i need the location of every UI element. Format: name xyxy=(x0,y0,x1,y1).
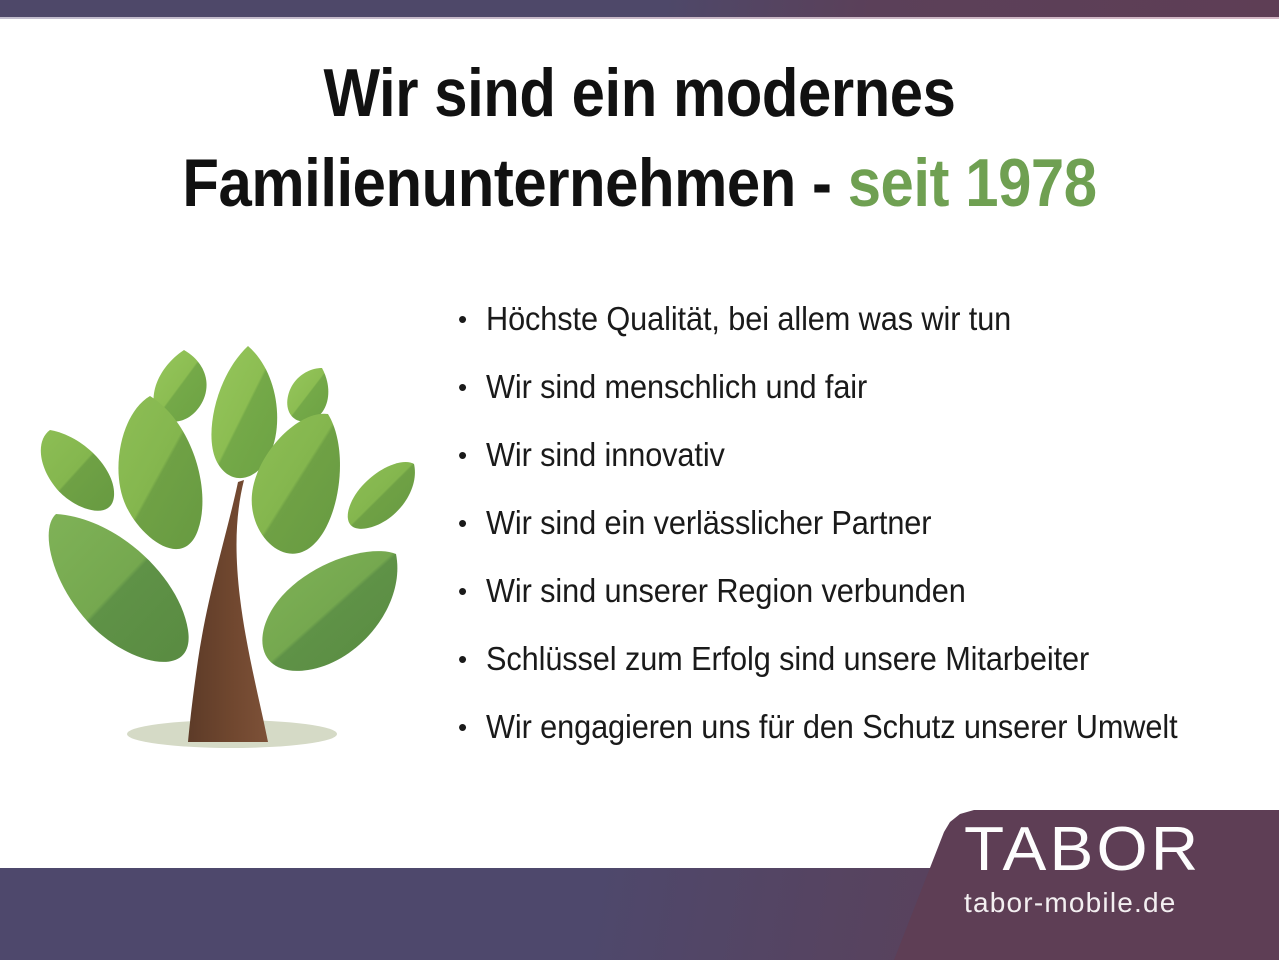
headline-line-2: Familienunternehmen - seit 1978 xyxy=(77,138,1203,228)
leaf-top-right-small xyxy=(287,368,328,422)
list-item-label: Wir sind menschlich und fair xyxy=(486,368,867,406)
tree-illustration xyxy=(22,330,442,770)
list-item-label: Höchste Qualität, bei allem was wir tun xyxy=(486,300,1011,338)
list-item: • Wir sind unserer Region verbunden xyxy=(458,572,1268,640)
list-item: • Wir sind innovativ xyxy=(458,436,1268,504)
bullet-icon: • xyxy=(458,578,486,604)
list-item: • Schlüssel zum Erfolg sind unsere Mitar… xyxy=(458,640,1268,708)
list-item-label: Wir engagieren uns für den Schutz unsere… xyxy=(486,708,1178,746)
list-item: • Wir sind ein verlässlicher Partner xyxy=(458,504,1268,572)
leaf-upper-left xyxy=(118,396,202,549)
slide-root: Wir sind ein modernes Familienunternehme… xyxy=(0,0,1279,960)
bullet-icon: • xyxy=(458,510,486,536)
benefits-list: • Höchste Qualität, bei allem was wir tu… xyxy=(458,300,1268,776)
leaf-far-left xyxy=(41,430,114,511)
headline-line-2-main: Familienunternehmen - xyxy=(182,145,847,221)
page-title: Wir sind ein modernes Familienunternehme… xyxy=(77,48,1203,228)
leaf-lower-right xyxy=(262,551,397,671)
headline-line-1: Wir sind ein modernes xyxy=(77,48,1203,138)
list-item: • Höchste Qualität, bei allem was wir tu… xyxy=(458,300,1268,368)
top-accent-hairline xyxy=(0,17,1279,19)
logo-url: tabor-mobile.de xyxy=(964,888,1264,918)
bullet-icon: • xyxy=(458,306,486,332)
top-accent-bar xyxy=(0,0,1279,17)
list-item-label: Wir sind unserer Region verbunden xyxy=(486,572,966,610)
bullet-icon: • xyxy=(458,442,486,468)
logo[interactable]: TABOR tabor-mobile.de xyxy=(964,818,1264,918)
list-item-label: Wir sind innovativ xyxy=(486,436,725,474)
logo-wordmark: TABOR xyxy=(964,818,1279,882)
headline-accent-year: seit 1978 xyxy=(848,145,1097,221)
list-item: • Wir sind menschlich und fair xyxy=(458,368,1268,436)
list-item-label: Schlüssel zum Erfolg sind unsere Mitarbe… xyxy=(486,640,1089,678)
list-item-label: Wir sind ein verlässlicher Partner xyxy=(486,504,931,542)
leaf-far-right xyxy=(348,462,415,529)
tree-icon xyxy=(22,330,442,770)
bullet-icon: • xyxy=(458,374,486,400)
list-item: • Wir engagieren uns für den Schutz unse… xyxy=(458,708,1268,776)
bullet-icon: • xyxy=(458,646,486,672)
bullet-icon: • xyxy=(458,714,486,740)
